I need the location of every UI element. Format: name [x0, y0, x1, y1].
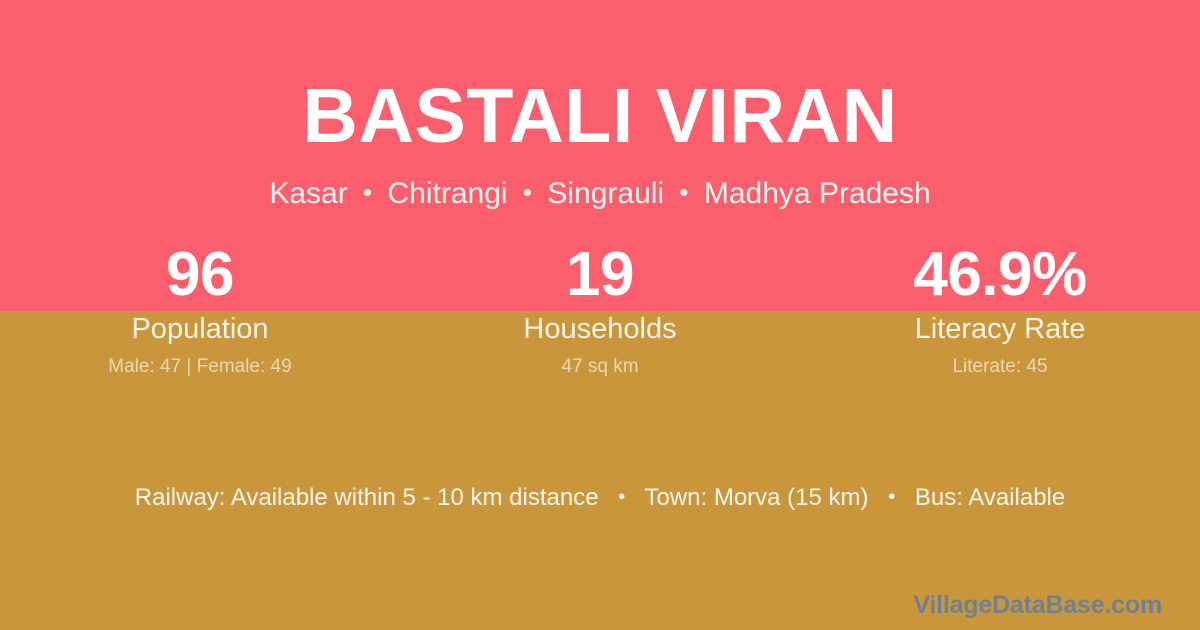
site-brand-watermark: VillageDataBase.com: [913, 591, 1162, 620]
breadcrumb: Kasar • Chitrangi • Singrauli • Madhya P…: [0, 177, 1200, 211]
page-title: BASTALI VIRAN: [0, 78, 1200, 155]
stat-value-population: 96: [0, 244, 400, 306]
facility-railway: Railway: Available within 5 - 10 km dist…: [135, 484, 599, 511]
stat-label-literacy-rate: Literacy Rate: [800, 314, 1200, 346]
breadcrumb-state: Madhya Pradesh: [704, 177, 931, 210]
village-info-card: BASTALI VIRAN Kasar • Chitrangi • Singra…: [0, 0, 1200, 630]
stat-value-households: 19: [400, 244, 800, 306]
facilities-line: Railway: Available within 5 - 10 km dist…: [0, 484, 1200, 512]
stats-row: 96 Population Male: 47 | Female: 49 19 H…: [0, 244, 1200, 378]
breadcrumb-district: Singrauli: [547, 177, 664, 210]
facility-town: Town: Morva (15 km): [644, 484, 868, 511]
stat-sub-literacy-rate: Literate: 45: [800, 357, 1200, 378]
stat-sub-households: 47 sq km: [400, 357, 800, 378]
breadcrumb-separator-1: •: [356, 177, 379, 208]
facility-separator-2: •: [875, 486, 908, 509]
stat-label-households: Households: [400, 314, 800, 346]
stat-households: 19 Households 47 sq km: [400, 244, 800, 378]
stat-literacy-rate: 46.9% Literacy Rate Literate: 45: [800, 244, 1200, 378]
breadcrumb-block: Chitrangi: [387, 177, 507, 210]
breadcrumb-separator-2: •: [516, 177, 539, 208]
breadcrumb-separator-3: •: [672, 177, 695, 208]
facility-bus: Bus: Available: [915, 484, 1065, 511]
facility-separator-1: •: [605, 486, 638, 509]
card-header: BASTALI VIRAN Kasar • Chitrangi • Singra…: [0, 0, 1200, 211]
stat-population: 96 Population Male: 47 | Female: 49: [0, 244, 400, 378]
stat-label-population: Population: [0, 314, 400, 346]
stat-value-literacy-rate: 46.9%: [800, 244, 1200, 306]
stat-sub-population: Male: 47 | Female: 49: [0, 357, 400, 378]
breadcrumb-panchayat: Kasar: [269, 177, 347, 210]
